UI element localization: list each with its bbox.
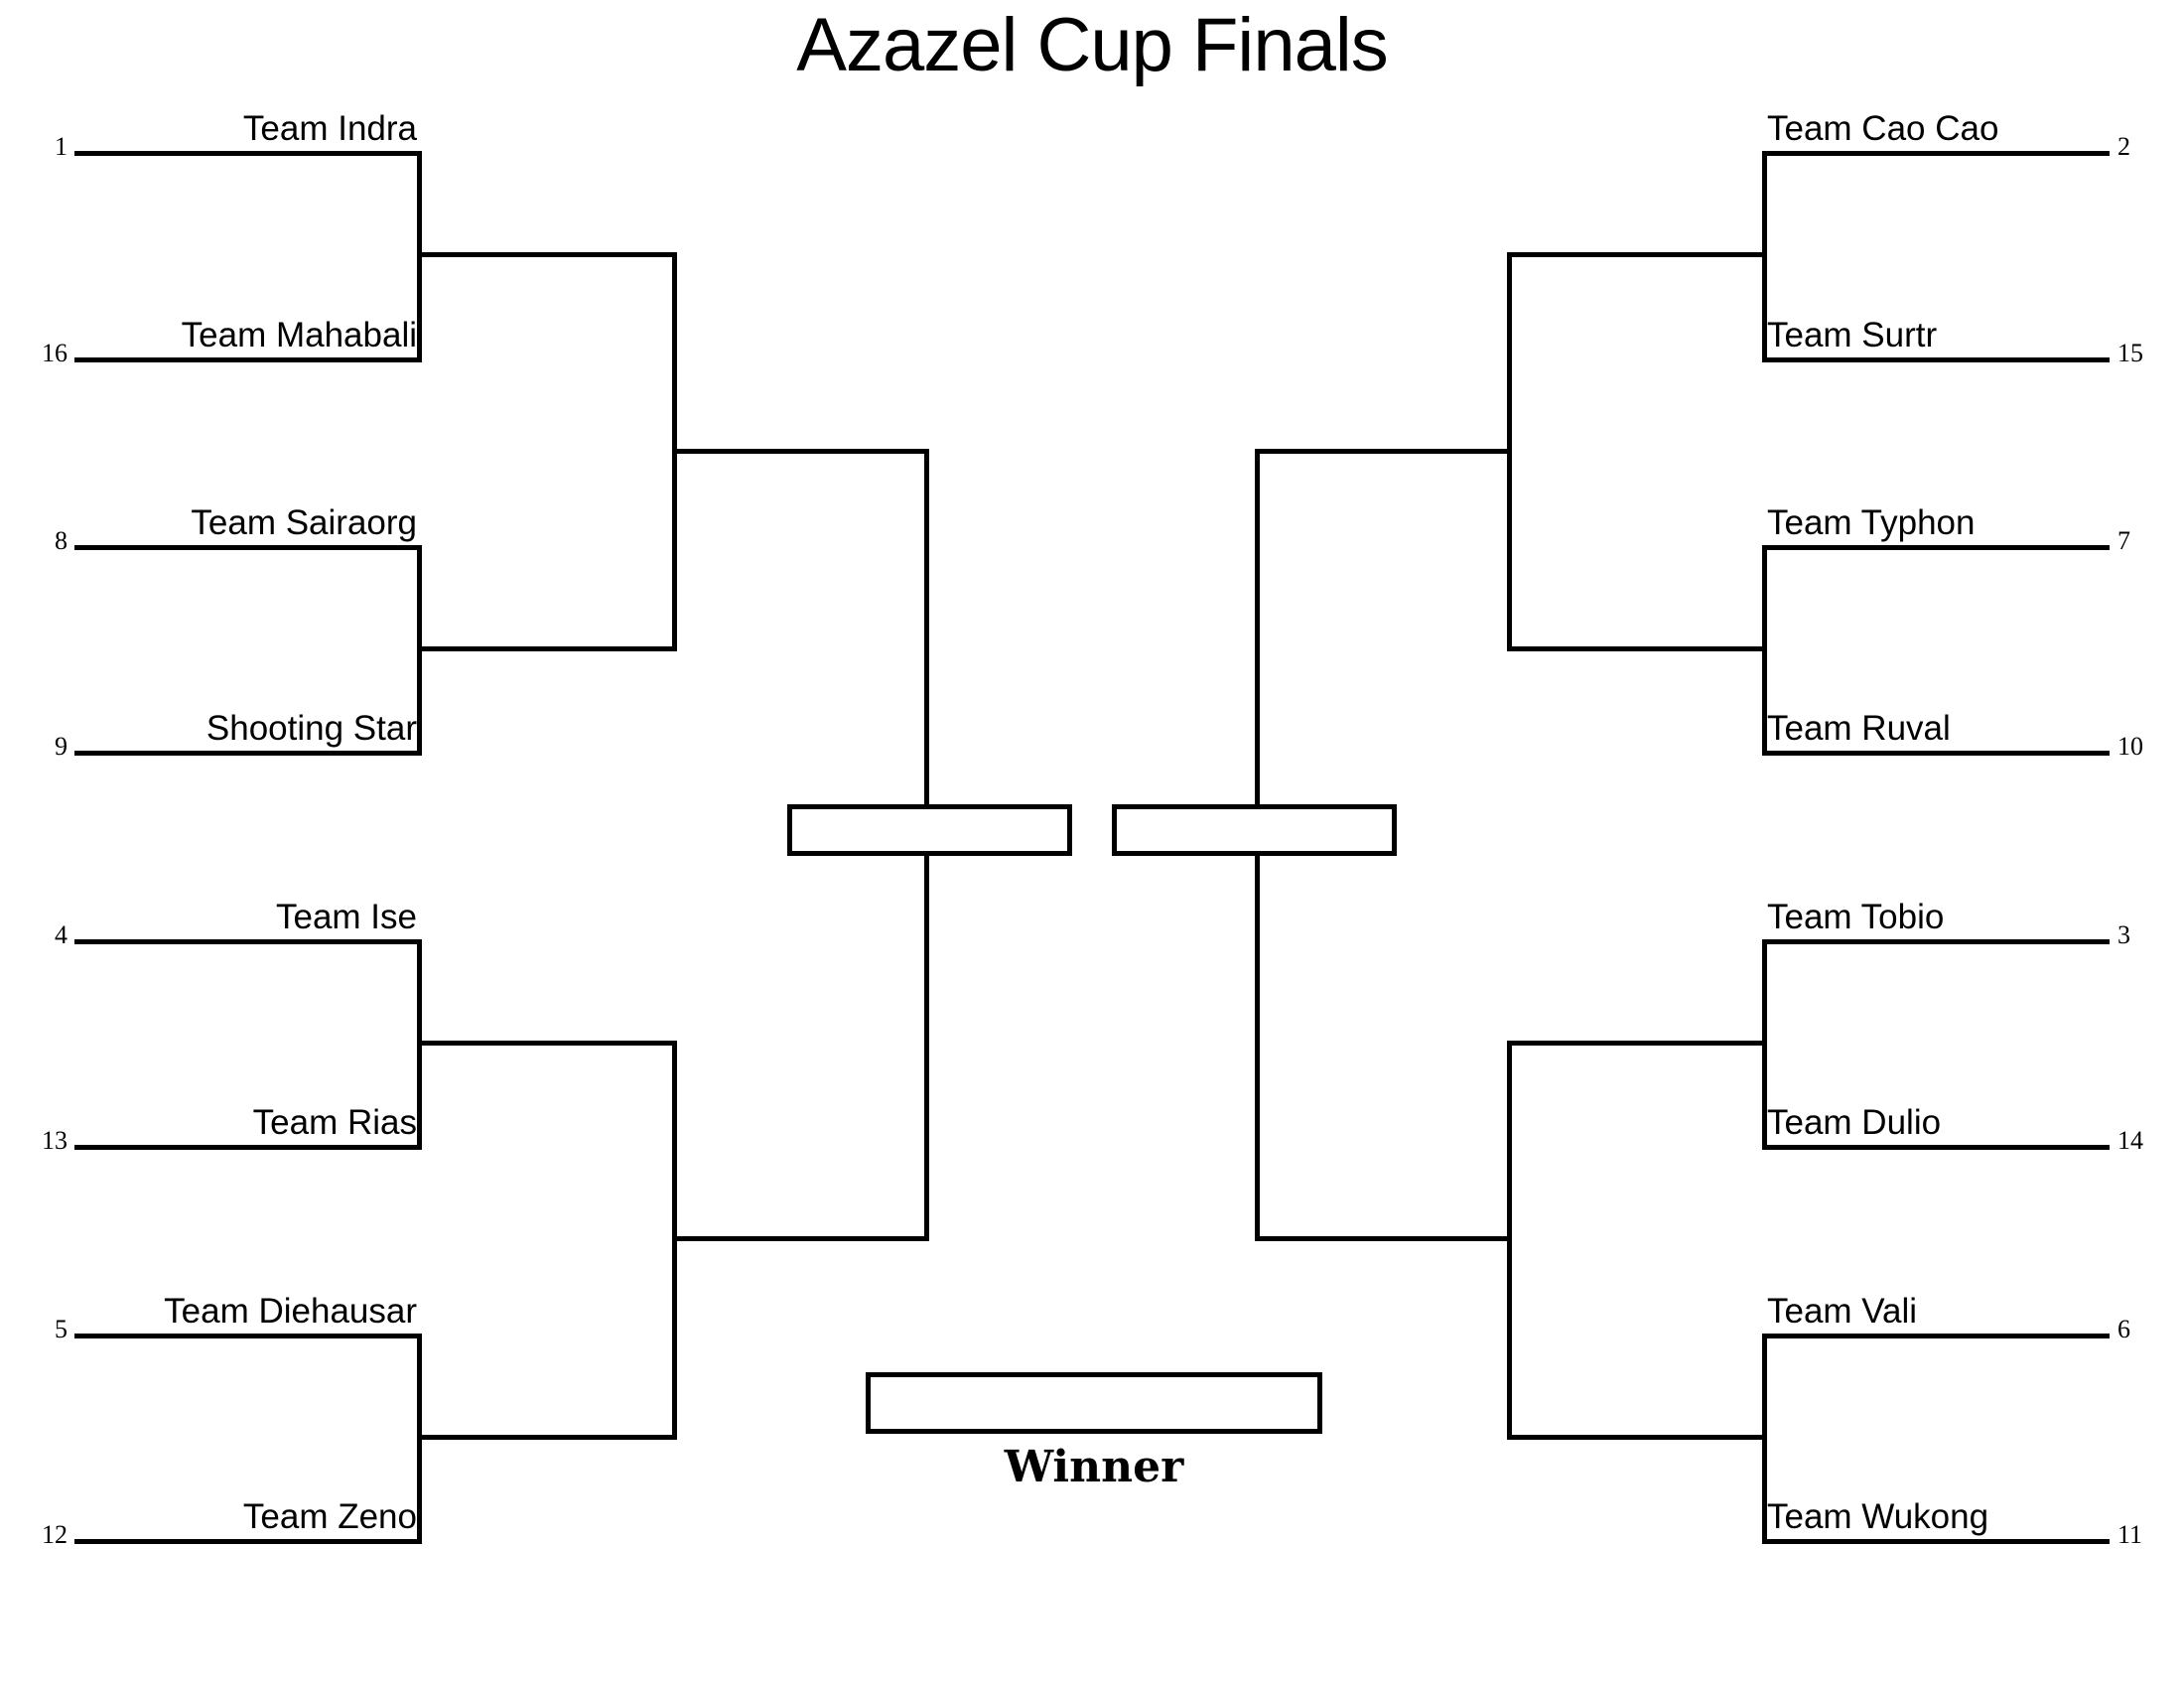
team-label-left-m4-bottom[interactable]: Team Zeno [74,1499,417,1534]
semifinal-left-top-feed [924,449,929,804]
team-label-left-m3-bottom[interactable]: Team Rias [74,1105,417,1140]
team-label-left-m1-bottom[interactable]: Team Mahabali [74,318,417,352]
seed-left-m4-top: 5 [30,1317,68,1342]
stem-right-m4-bottom [1762,1539,2110,1544]
team-label-right-m3-top[interactable]: Team Tobio [1767,900,2110,934]
seed-left-m1-top: 1 [30,134,68,160]
seed-right-m4-top: 6 [2117,1317,2163,1342]
semifinal-slot-left[interactable] [787,804,1072,856]
final-winner-slot[interactable] [866,1372,1322,1434]
team-label-left-m3-top[interactable]: Team Ise [74,900,417,934]
round2-left-top-arm-2 [417,1041,677,1046]
stem-left-m1-top [74,151,422,156]
stem-left-m1-bottom [74,357,422,362]
semifinal-right-top-feed [1255,449,1260,804]
stem-right-m2-top [1762,545,2110,550]
stem-left-m3-bottom [74,1145,422,1150]
seed-left-m1-bottom: 16 [22,341,68,366]
stem-right-m2-bottom [1762,751,2110,756]
stem-left-m4-bottom [74,1539,422,1544]
team-label-left-m2-bottom[interactable]: Shooting Star [74,711,417,746]
team-label-left-m2-top[interactable]: Team Sairaorg [74,505,417,540]
winner-caption: Winner [866,1446,1322,1489]
semifinal-right-bottom-feed [1255,854,1260,1240]
seed-left-m3-bottom: 13 [22,1128,68,1154]
team-label-right-m3-bottom[interactable]: Team Dulio [1767,1105,2110,1140]
team-label-right-m4-bottom[interactable]: Team Wukong [1767,1499,2110,1534]
stem-right-m3-top [1762,939,2110,944]
stem-right-m1-bottom [1762,357,2110,362]
semifinal-right-top-arm [1255,449,1512,454]
semifinal-slot-right[interactable] [1112,804,1397,856]
team-label-right-m4-top[interactable]: Team Vali [1767,1294,2110,1329]
seed-left-m3-top: 4 [30,922,68,948]
seed-right-m2-top: 7 [2117,528,2163,554]
stem-left-m3-top [74,939,422,944]
seed-right-m3-bottom: 14 [2117,1128,2171,1154]
stem-right-m3-bottom [1762,1145,2110,1150]
semifinal-left-bottom-arm [672,1236,929,1241]
round2-right-top-arm-2 [1507,1041,1767,1046]
round2-left-bottom-arm [417,646,677,651]
team-label-right-m2-bottom[interactable]: Team Ruval [1767,711,2110,746]
bracket-canvas: Azazel Cup Finals Team Indra 1 Team Maha… [0,0,2184,1688]
team-label-right-m1-bottom[interactable]: Team Surtr [1767,318,2110,352]
semifinal-right-bottom-arm [1255,1236,1512,1241]
stem-right-m1-top [1762,151,2110,156]
round2-right-bottom-arm [1507,646,1767,651]
seed-left-m2-bottom: 9 [30,734,68,760]
page-title: Azazel Cup Finals [0,6,2184,85]
team-label-left-m4-top[interactable]: Team Diehausar [74,1294,417,1329]
semifinal-left-bottom-feed [924,854,929,1240]
stem-right-m4-top [1762,1334,2110,1338]
round2-right-top-arm [1507,252,1767,257]
round2-left-bottom-arm-2 [417,1435,677,1440]
seed-left-m2-top: 8 [30,528,68,554]
team-label-right-m1-top[interactable]: Team Cao Cao [1767,111,2110,146]
stem-left-m2-top [74,545,422,550]
round2-right-bottom-arm-2 [1507,1435,1767,1440]
semifinal-left-top-arm [672,449,929,454]
seed-left-m4-bottom: 12 [22,1522,68,1548]
seed-right-m1-top: 2 [2117,134,2163,160]
stem-left-m2-bottom [74,751,422,756]
round2-left-top-arm [417,252,677,257]
team-label-left-m1-top[interactable]: Team Indra [74,111,417,146]
seed-right-m3-top: 3 [2117,922,2163,948]
seed-right-m4-bottom: 11 [2117,1522,2171,1548]
stem-left-m4-top [74,1334,422,1338]
team-label-right-m2-top[interactable]: Team Typhon [1767,505,2110,540]
seed-right-m2-bottom: 10 [2117,734,2171,760]
seed-right-m1-bottom: 15 [2117,341,2171,366]
